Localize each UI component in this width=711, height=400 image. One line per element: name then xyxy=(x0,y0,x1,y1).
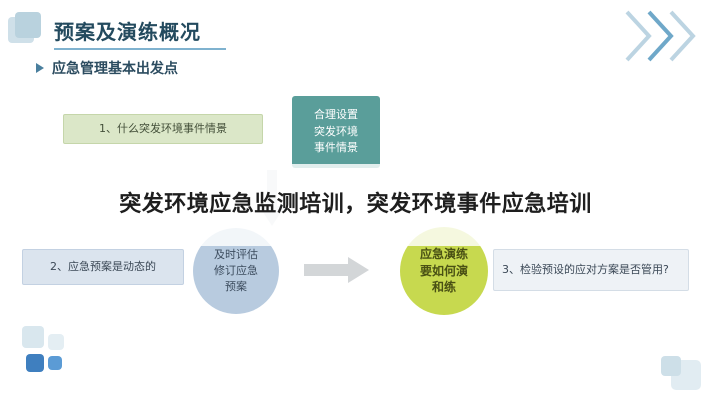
stacked-squares-icon xyxy=(8,12,42,46)
node-revise-line1: 及时评估 xyxy=(214,247,258,263)
node-revise-line3: 预案 xyxy=(225,279,247,295)
node-dynamic: 2、应急预案是动态的 xyxy=(22,249,184,285)
node-setting: 合理设置 突发环境 事件情景 xyxy=(292,96,380,168)
dots-cluster-icon xyxy=(22,326,78,382)
rounded-squares-icon xyxy=(655,344,701,390)
node-revise-line2: 修订应急 xyxy=(214,263,258,279)
node-setting-line1: 合理设置 xyxy=(314,107,358,124)
bullet-row: 应急管理基本出发点 xyxy=(36,58,178,78)
overlapping-chevrons-icon xyxy=(619,8,697,64)
right-arrow-icon xyxy=(304,257,370,283)
node-scene: 1、什么突发环境事件情景 xyxy=(63,114,263,144)
node-setting-line2: 突发环境 xyxy=(314,124,358,141)
triangle-bullet-icon xyxy=(36,63,44,73)
caption-band: 突发环境应急监测培训，突发环境事件应急培训 xyxy=(0,164,711,246)
node-check: 3、检验预设的应对方案是否管用? xyxy=(493,249,689,291)
node-drill-line3: 和练 xyxy=(432,279,456,296)
node-drill-line2: 要如何演 xyxy=(420,263,468,280)
slide-canvas: 预案及演练概况 应急管理基本出发点 1、什么突发环境事件情景 合理设置 突发环境… xyxy=(0,0,711,400)
page-title: 预案及演练概况 xyxy=(54,16,201,45)
title-underline xyxy=(54,48,226,50)
node-drill-line1: 应急演练 xyxy=(420,246,468,263)
caption-text: 突发环境应急监测培训，突发环境事件应急培训 xyxy=(36,189,676,220)
bullet-label: 应急管理基本出发点 xyxy=(52,58,178,78)
node-setting-line3: 事件情景 xyxy=(314,140,358,157)
